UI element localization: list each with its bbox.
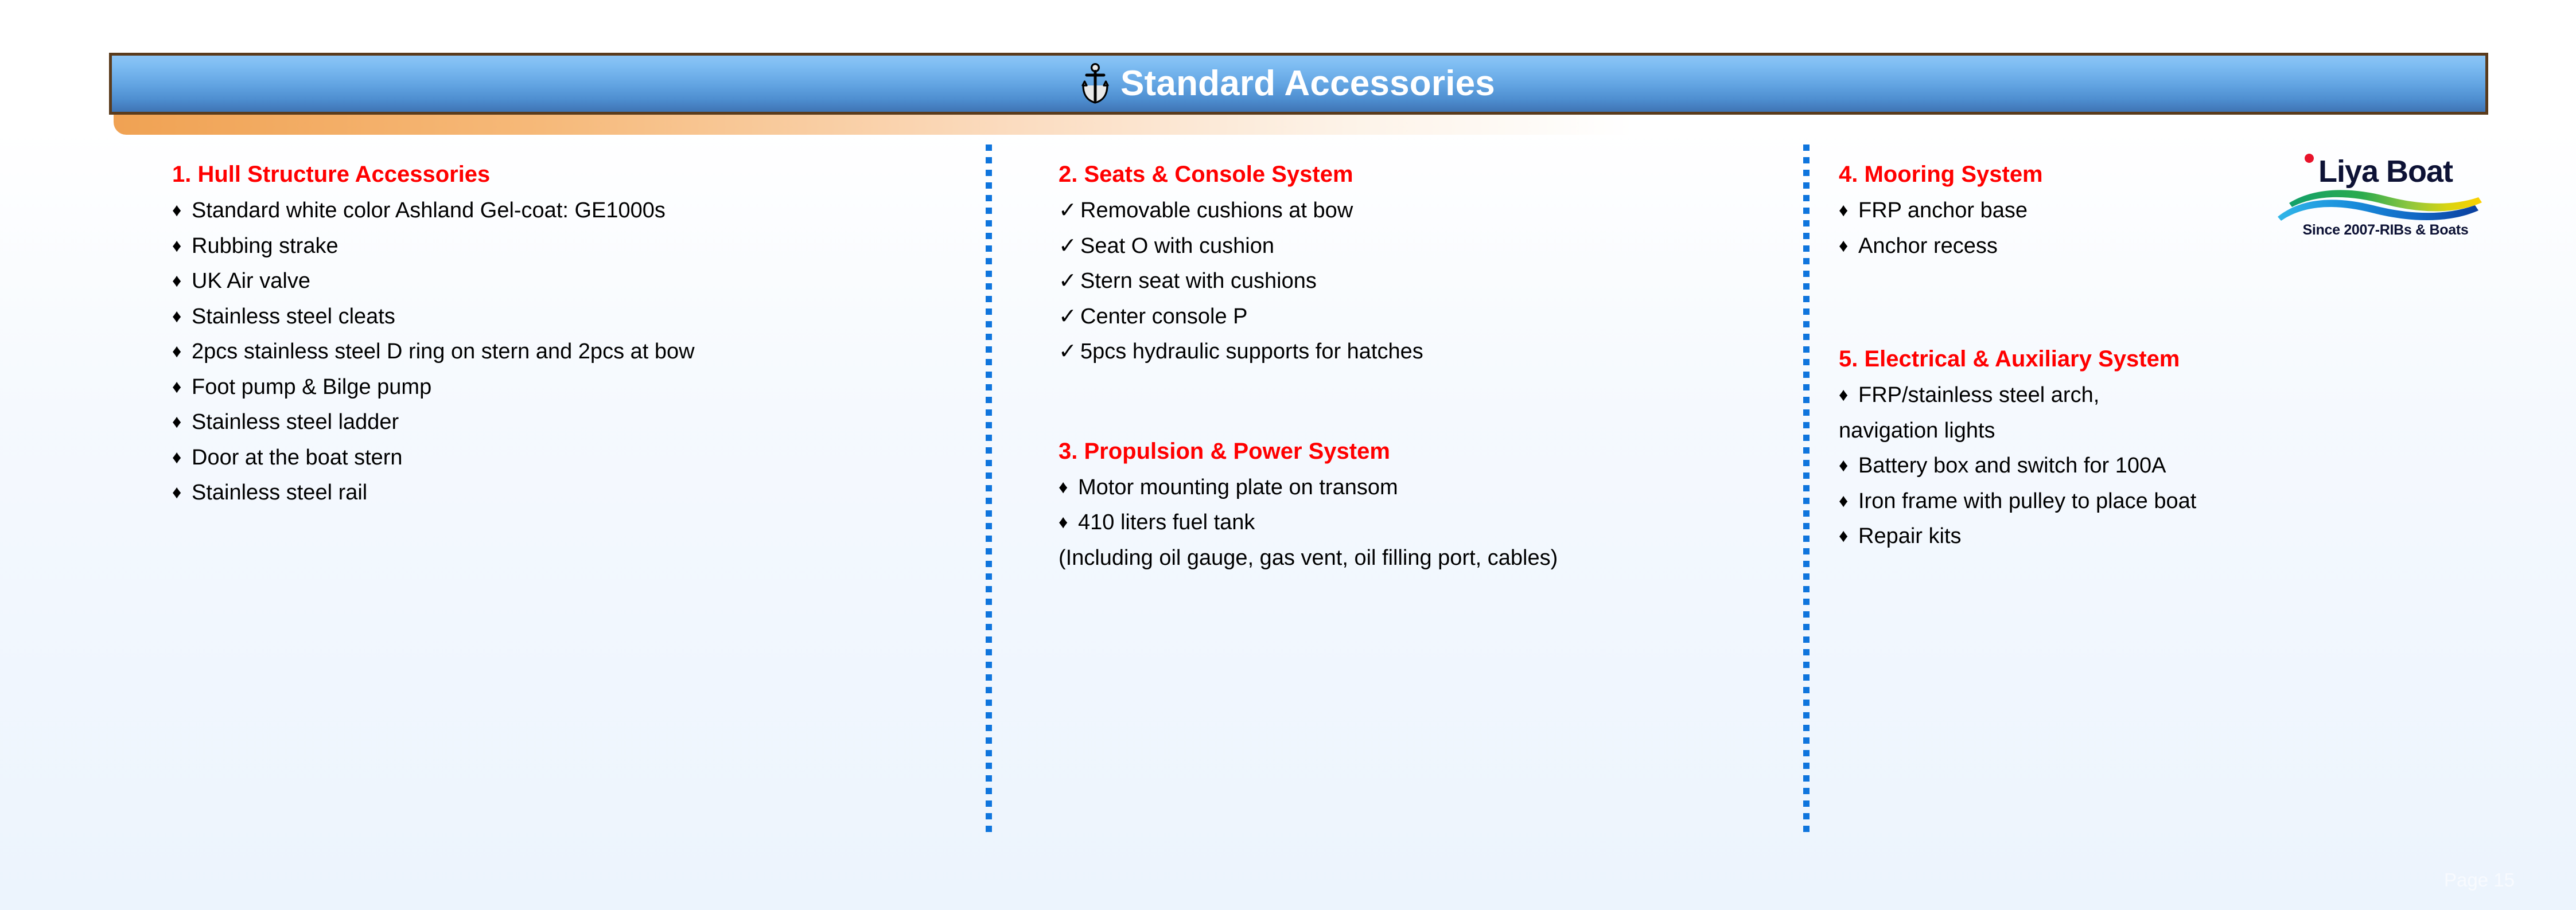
check-bullet-icon: ✓ xyxy=(1059,198,1080,223)
list-item: ✓Seat O with cushion xyxy=(1059,234,1787,259)
list-item-label: Stern seat with cushions xyxy=(1080,269,1787,294)
diamond-bullet-icon: ♦ xyxy=(172,375,192,399)
list-item-label: navigation lights xyxy=(1839,419,2390,443)
list-item-label: 410 liters fuel tank xyxy=(1078,510,1787,535)
logo-wave-icon xyxy=(2277,188,2488,222)
section-heading-2: 2. Seats & Console System xyxy=(1059,161,1787,188)
list-item-label: Foot pump & Bilge pump xyxy=(192,375,952,400)
column-hull-structure: 1. Hull Structure Accessories ♦Standard … xyxy=(172,161,952,516)
diamond-bullet-icon: ♦ xyxy=(172,481,192,505)
diamond-bullet-icon: ♦ xyxy=(172,446,192,470)
diamond-bullet-icon: ♦ xyxy=(172,339,192,364)
diamond-bullet-icon: ♦ xyxy=(1839,524,1858,548)
diamond-bullet-icon: ♦ xyxy=(172,269,192,293)
diamond-bullet-icon: ♦ xyxy=(1059,475,1078,499)
list-item-label: Stainless steel ladder xyxy=(192,410,952,435)
diamond-bullet-icon: ♦ xyxy=(172,198,192,222)
list-item: ♦Foot pump & Bilge pump xyxy=(172,375,952,400)
list-propulsion-power: ♦Motor mounting plate on transom ♦410 li… xyxy=(1059,475,1787,571)
list-item: ♦Motor mounting plate on transom xyxy=(1059,475,1787,500)
section-heading-3: 3. Propulsion & Power System xyxy=(1059,438,1787,465)
list-item: ♦Stainless steel cleats xyxy=(172,304,952,329)
list-item: ♦2pcs stainless steel D ring on stern an… xyxy=(172,339,952,364)
list-item: ♦Door at the boat stern xyxy=(172,446,952,470)
logo-wordmark-wrap: Liya Boat xyxy=(2277,156,2495,187)
check-bullet-icon: ✓ xyxy=(1059,339,1080,364)
list-item-label: Door at the boat stern xyxy=(192,446,952,470)
diamond-bullet-icon: ♦ xyxy=(1059,510,1078,534)
check-bullet-icon: ✓ xyxy=(1059,269,1080,294)
check-bullet-icon: ✓ xyxy=(1059,304,1080,329)
list-item: ♦Rubbing strake xyxy=(172,234,952,259)
list-item: ✓5pcs hydraulic supports for hatches xyxy=(1059,339,1787,364)
list-item-label: Battery box and switch for 100A xyxy=(1858,454,2390,478)
list-item: ♦Repair kits xyxy=(1839,524,2390,549)
header-content: Standard Accessories xyxy=(1079,63,1495,105)
diamond-bullet-icon: ♦ xyxy=(1839,198,1858,222)
list-item-label: Rubbing strake xyxy=(192,234,952,259)
list-item: ♦410 liters fuel tank xyxy=(1059,510,1787,535)
list-item-label: Center console P xyxy=(1080,304,1787,329)
liya-boat-logo: Liya Boat Since 2007-RIBs & Boats xyxy=(2277,156,2495,242)
list-item-label: UK Air valve xyxy=(192,269,952,294)
list-item-continuation: navigation lights xyxy=(1839,419,2390,443)
diamond-bullet-icon: ♦ xyxy=(172,410,192,434)
diamond-bullet-icon: ♦ xyxy=(1839,454,1858,478)
list-item-label: Repair kits xyxy=(1858,524,2390,549)
list-item: ♦Standard white color Ashland Gel-coat: … xyxy=(172,198,952,223)
list-item: ✓Stern seat with cushions xyxy=(1059,269,1787,294)
list-item: ♦FRP/stainless steel arch, xyxy=(1839,383,2390,408)
list-item-label: Standard white color Ashland Gel-coat: G… xyxy=(192,198,952,223)
list-item-note: (Including oil gauge, gas vent, oil fill… xyxy=(1059,546,1787,571)
list-item-label: Iron frame with pulley to place boat xyxy=(1858,489,2390,514)
page-header-banner: Standard Accessories xyxy=(109,53,2488,115)
list-item-label: FRP/stainless steel arch, xyxy=(1858,383,2390,408)
note-label: (Including oil gauge, gas vent, oil fill… xyxy=(1059,546,1787,571)
diamond-bullet-icon: ♦ xyxy=(1839,489,1858,513)
page-title: Standard Accessories xyxy=(1120,66,1495,101)
list-item: ✓Removable cushions at bow xyxy=(1059,198,1787,223)
list-hull-structure: ♦Standard white color Ashland Gel-coat: … xyxy=(172,198,952,505)
list-item: ♦Stainless steel ladder xyxy=(172,410,952,435)
list-item-label: 5pcs hydraulic supports for hatches xyxy=(1080,339,1787,364)
list-item-label: Motor mounting plate on transom xyxy=(1078,475,1787,500)
list-item-label: 2pcs stainless steel D ring on stern and… xyxy=(192,339,952,364)
column-divider-left xyxy=(986,144,992,837)
list-item: ♦Battery box and switch for 100A xyxy=(1839,454,2390,478)
list-item-label: Removable cushions at bow xyxy=(1080,198,1787,223)
section-heading-5: 5. Electrical & Auxiliary System xyxy=(1839,345,2390,373)
diamond-bullet-icon: ♦ xyxy=(172,234,192,258)
list-item-label: Stainless steel rail xyxy=(192,481,952,505)
logo-tagline: Since 2007-RIBs & Boats xyxy=(2277,223,2495,237)
logo-red-dot-icon xyxy=(2305,154,2314,163)
anchor-icon xyxy=(1079,63,1111,105)
list-electrical-auxiliary: ♦FRP/stainless steel arch, navigation li… xyxy=(1839,383,2390,549)
page-number-label: Page 15 xyxy=(2444,869,2515,891)
list-item: ♦Stainless steel rail xyxy=(172,481,952,505)
list-item-label: Stainless steel cleats xyxy=(192,304,952,329)
diamond-bullet-icon: ♦ xyxy=(1839,234,1858,258)
diamond-bullet-icon: ♦ xyxy=(1839,383,1858,407)
check-bullet-icon: ✓ xyxy=(1059,234,1080,259)
list-item: ♦Iron frame with pulley to place boat xyxy=(1839,489,2390,514)
list-item-label: Seat O with cushion xyxy=(1080,234,1787,259)
header-accent-bar xyxy=(114,112,2489,135)
list-item: ♦UK Air valve xyxy=(172,269,952,294)
diamond-bullet-icon: ♦ xyxy=(172,304,192,329)
list-item: ✓Center console P xyxy=(1059,304,1787,329)
list-seats-console: ✓Removable cushions at bow ✓Seat O with … xyxy=(1059,198,1787,364)
column-divider-right xyxy=(1803,144,1810,837)
section-heading-1: 1. Hull Structure Accessories xyxy=(172,161,952,188)
column-seats-propulsion: 2. Seats & Console System ✓Removable cus… xyxy=(1059,161,1787,581)
logo-wordmark-text: Liya Boat xyxy=(2318,154,2453,189)
